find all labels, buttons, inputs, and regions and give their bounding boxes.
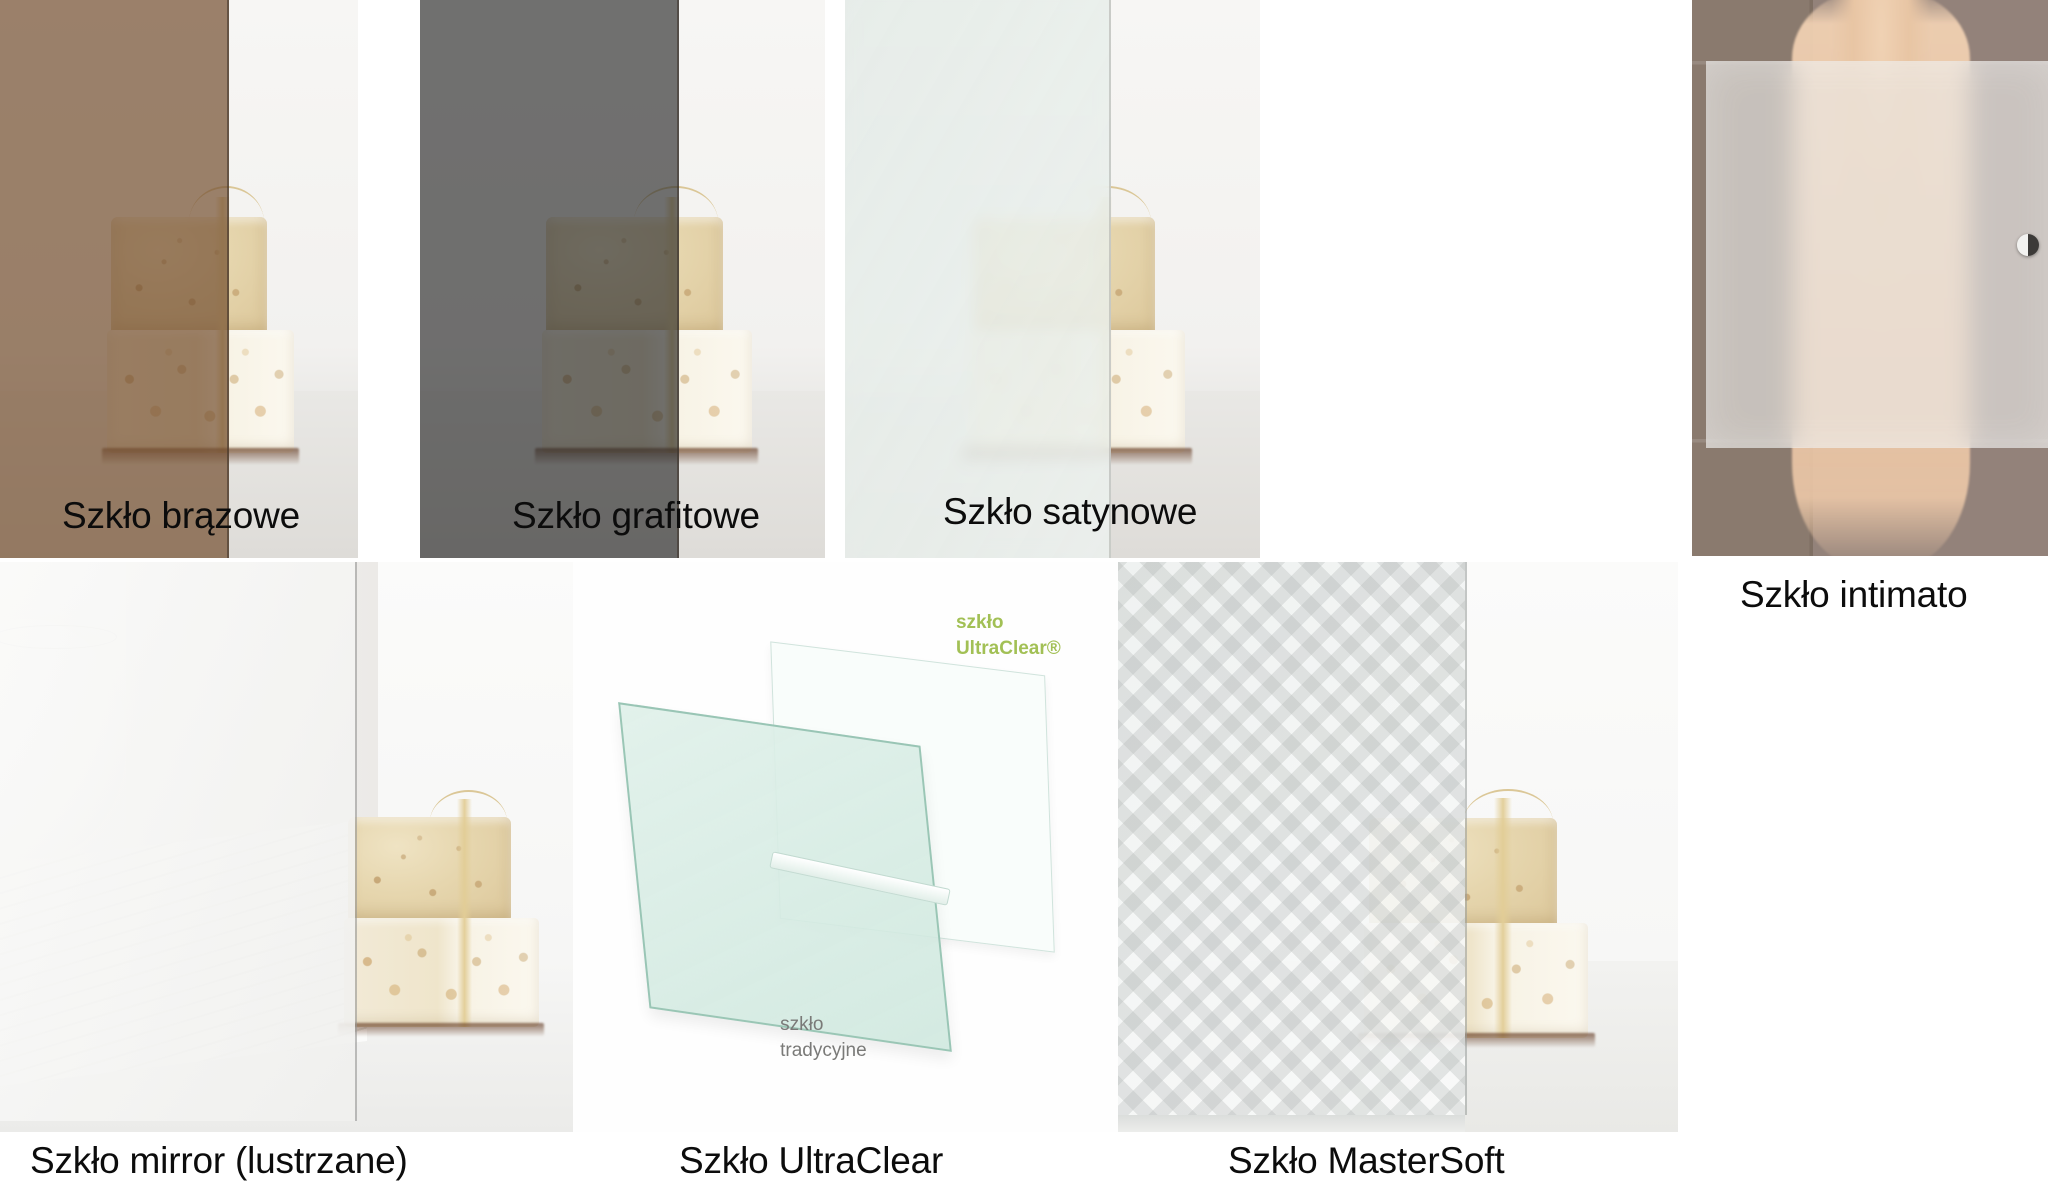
pane-bottom-edge <box>1118 1115 1465 1132</box>
tile-szklo-grafitowe[interactable]: Szkło grafitowe <box>420 0 825 558</box>
tile-szklo-satynowe[interactable]: Szkło satynowe <box>845 0 1260 558</box>
ultraclear-label-line2: UltraClear® <box>956 636 1061 662</box>
ultraclear-glass-sheets-icon <box>618 702 951 1052</box>
tile-caption-mirror: Szkło mirror (lustrzane) <box>30 1142 408 1179</box>
graphite-glass-pane-icon <box>420 0 679 558</box>
mastersoft-glass-photo <box>1118 562 1678 1132</box>
twine-icon <box>457 799 473 1027</box>
ultraclear-overlay-label: szkło UltraClear® <box>956 610 1061 661</box>
ultraclear-label-line1: szkło <box>956 610 1061 636</box>
tile-caption-ultraclear: Szkło UltraClear <box>679 1142 943 1179</box>
tile-caption-mastersoft: Szkło MasterSoft <box>1228 1142 1504 1179</box>
brown-glass-photo <box>0 0 358 558</box>
traditional-label-line1: szkło <box>780 1012 867 1038</box>
satin-glass-pane-icon <box>845 0 1111 558</box>
mastersoft-glass-pane-icon <box>1118 562 1465 1115</box>
intimato-glass-photo <box>1692 0 2048 556</box>
soap-shadow <box>338 1023 545 1037</box>
tile-caption-intimato: Szkło intimato <box>1740 576 1968 613</box>
tile-szklo-intimato[interactable] <box>1692 0 2048 556</box>
tile-szklo-brazowe[interactable]: Szkło brązowe <box>0 0 358 558</box>
pane-edge <box>355 562 357 1121</box>
ultraclear-glass-photo: szkło UltraClear® szkło tradycyjne <box>573 562 1118 1132</box>
tile-szklo-mastersoft[interactable] <box>1118 562 1678 1132</box>
graphite-glass-photo <box>420 0 825 558</box>
soap-stack <box>344 813 539 1041</box>
twine-icon <box>1494 798 1512 1037</box>
tile-caption-brazowe: Szkło brązowe <box>62 497 300 534</box>
tile-szklo-mirror[interactable] <box>0 562 573 1132</box>
pane-edge <box>1465 562 1467 1115</box>
satin-glass-photo <box>845 0 1260 558</box>
mirror-glass-pane-icon <box>0 562 355 1121</box>
tile-caption-grafitowe: Szkło grafitowe <box>512 497 760 534</box>
tile-szklo-ultraclear[interactable]: szkło UltraClear® szkło tradycyjne <box>573 562 1118 1132</box>
glass-types-gallery: Szkło brązowe Szkło grafitowe <box>0 0 2048 1204</box>
traditional-glass-overlay-label: szkło tradycyjne <box>780 1012 867 1063</box>
traditional-label-line2: tradycyjne <box>780 1038 867 1064</box>
pane-edge <box>1109 0 1111 558</box>
brown-glass-pane-icon <box>0 0 229 558</box>
pane-edge <box>677 0 679 558</box>
intimato-glass-pane-icon <box>1706 61 2048 447</box>
tile-caption-satynowe: Szkło satynowe <box>943 493 1197 530</box>
shower-door-handle-icon <box>2017 234 2039 256</box>
soap-bar-top <box>348 817 512 922</box>
mirror-glass-photo <box>0 562 573 1132</box>
pane-edge <box>227 0 229 558</box>
soap-bar-bottom <box>344 918 539 1027</box>
